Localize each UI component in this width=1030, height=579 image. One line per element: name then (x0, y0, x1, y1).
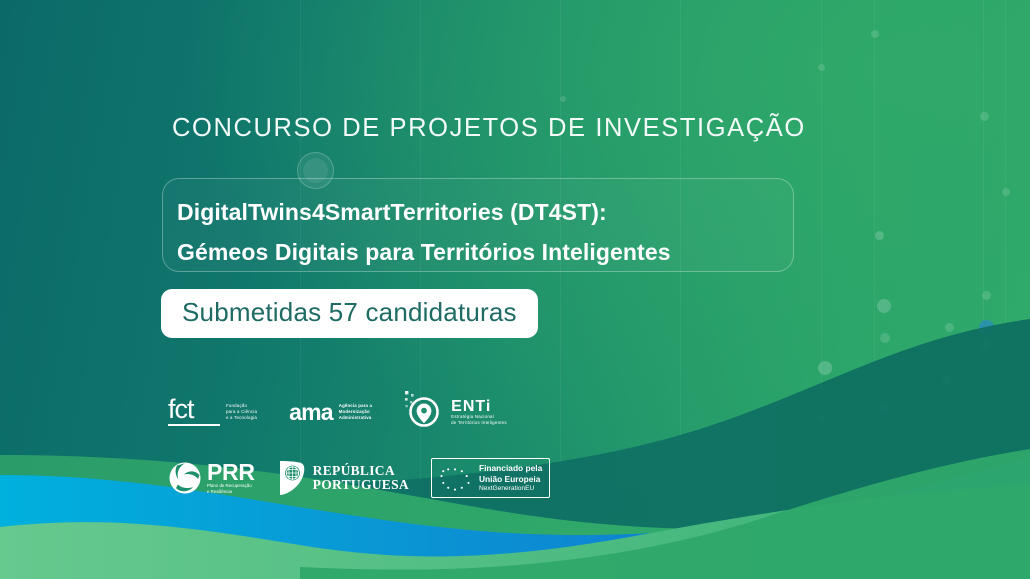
prr-wordmark: PRR (207, 462, 255, 483)
banner-canvas: CONCURSO DE PROJETOS DE INVESTIGAÇÃO Dig… (0, 0, 1030, 579)
fct-subtitle-line: e a Tecnologia (226, 415, 257, 421)
fct-underline (168, 424, 220, 426)
status-badge: Submetidas 57 candidaturas (161, 289, 538, 338)
logo-row-funding: PRR Plano de Recuperação e Resiliência R… (168, 458, 550, 498)
logo-ama: ama Agência para a Modernização Administ… (289, 401, 372, 423)
title-line-2: Gémeos Digitais para Territórios Intelig… (177, 232, 793, 272)
eu-text-block: Financiado pela União Europeia NextGener… (479, 463, 542, 493)
eu-line-3: NextGenerationEU (479, 484, 542, 493)
prr-text-block: PRR Plano de Recuperação e Resiliência (207, 462, 255, 495)
fct-subtitle: Fundação para a Ciência e a Tecnologia (226, 403, 257, 421)
logo-republica-portuguesa: REPÚBLICA PORTUGUESA (277, 460, 409, 496)
eu-line-2: União Europeia (479, 474, 542, 485)
ama-subtitle: Agência para a Modernização Administrati… (339, 403, 372, 420)
fct-wordmark: fct (168, 397, 220, 421)
fct-icon: fct (168, 397, 220, 427)
eu-line-1: Financiado pela (479, 463, 542, 474)
eyebrow-text: CONCURSO DE PROJETOS DE INVESTIGAÇÃO (172, 114, 806, 143)
republica-wordmark-line-2: PORTUGUESA (313, 478, 409, 492)
republica-wordmark-line-1: REPÚBLICA (313, 464, 409, 478)
title-line-1: DigitalTwins4SmartTerritories (DT4ST): (177, 192, 793, 232)
enti-subtitle-line: de Territórios Inteligentes (451, 420, 507, 426)
prr-subtitle-line: Plano de Recuperação (207, 483, 255, 489)
enti-pin-icon (404, 390, 444, 434)
prr-emblem-icon (168, 461, 202, 495)
logo-european-union: Financiado pela União Europeia NextGener… (431, 458, 550, 498)
ama-wordmark: ama (289, 401, 333, 423)
logo-fct: fct Fundação para a Ciência e a Tecnolog… (168, 397, 257, 427)
republica-shield-icon (277, 460, 307, 496)
status-badge-label: Submetidas 57 candidaturas (182, 297, 517, 328)
logo-prr: PRR Plano de Recuperação e Resiliência (168, 461, 255, 495)
eu-flag-icon (437, 465, 473, 491)
logo-row-primary: fct Fundação para a Ciência e a Tecnolog… (168, 390, 507, 434)
enti-wordmark: ENTi (451, 399, 507, 414)
title-card: DigitalTwins4SmartTerritories (DT4ST): G… (162, 178, 794, 272)
enti-text-block: ENTi Estratégia Nacional de Territórios … (451, 399, 507, 426)
prr-subtitle-line: e Resiliência (207, 489, 255, 495)
logo-enti: ENTi Estratégia Nacional de Territórios … (404, 390, 507, 434)
ama-subtitle-line: Administrativa (339, 415, 372, 421)
republica-text-block: REPÚBLICA PORTUGUESA (313, 464, 409, 492)
